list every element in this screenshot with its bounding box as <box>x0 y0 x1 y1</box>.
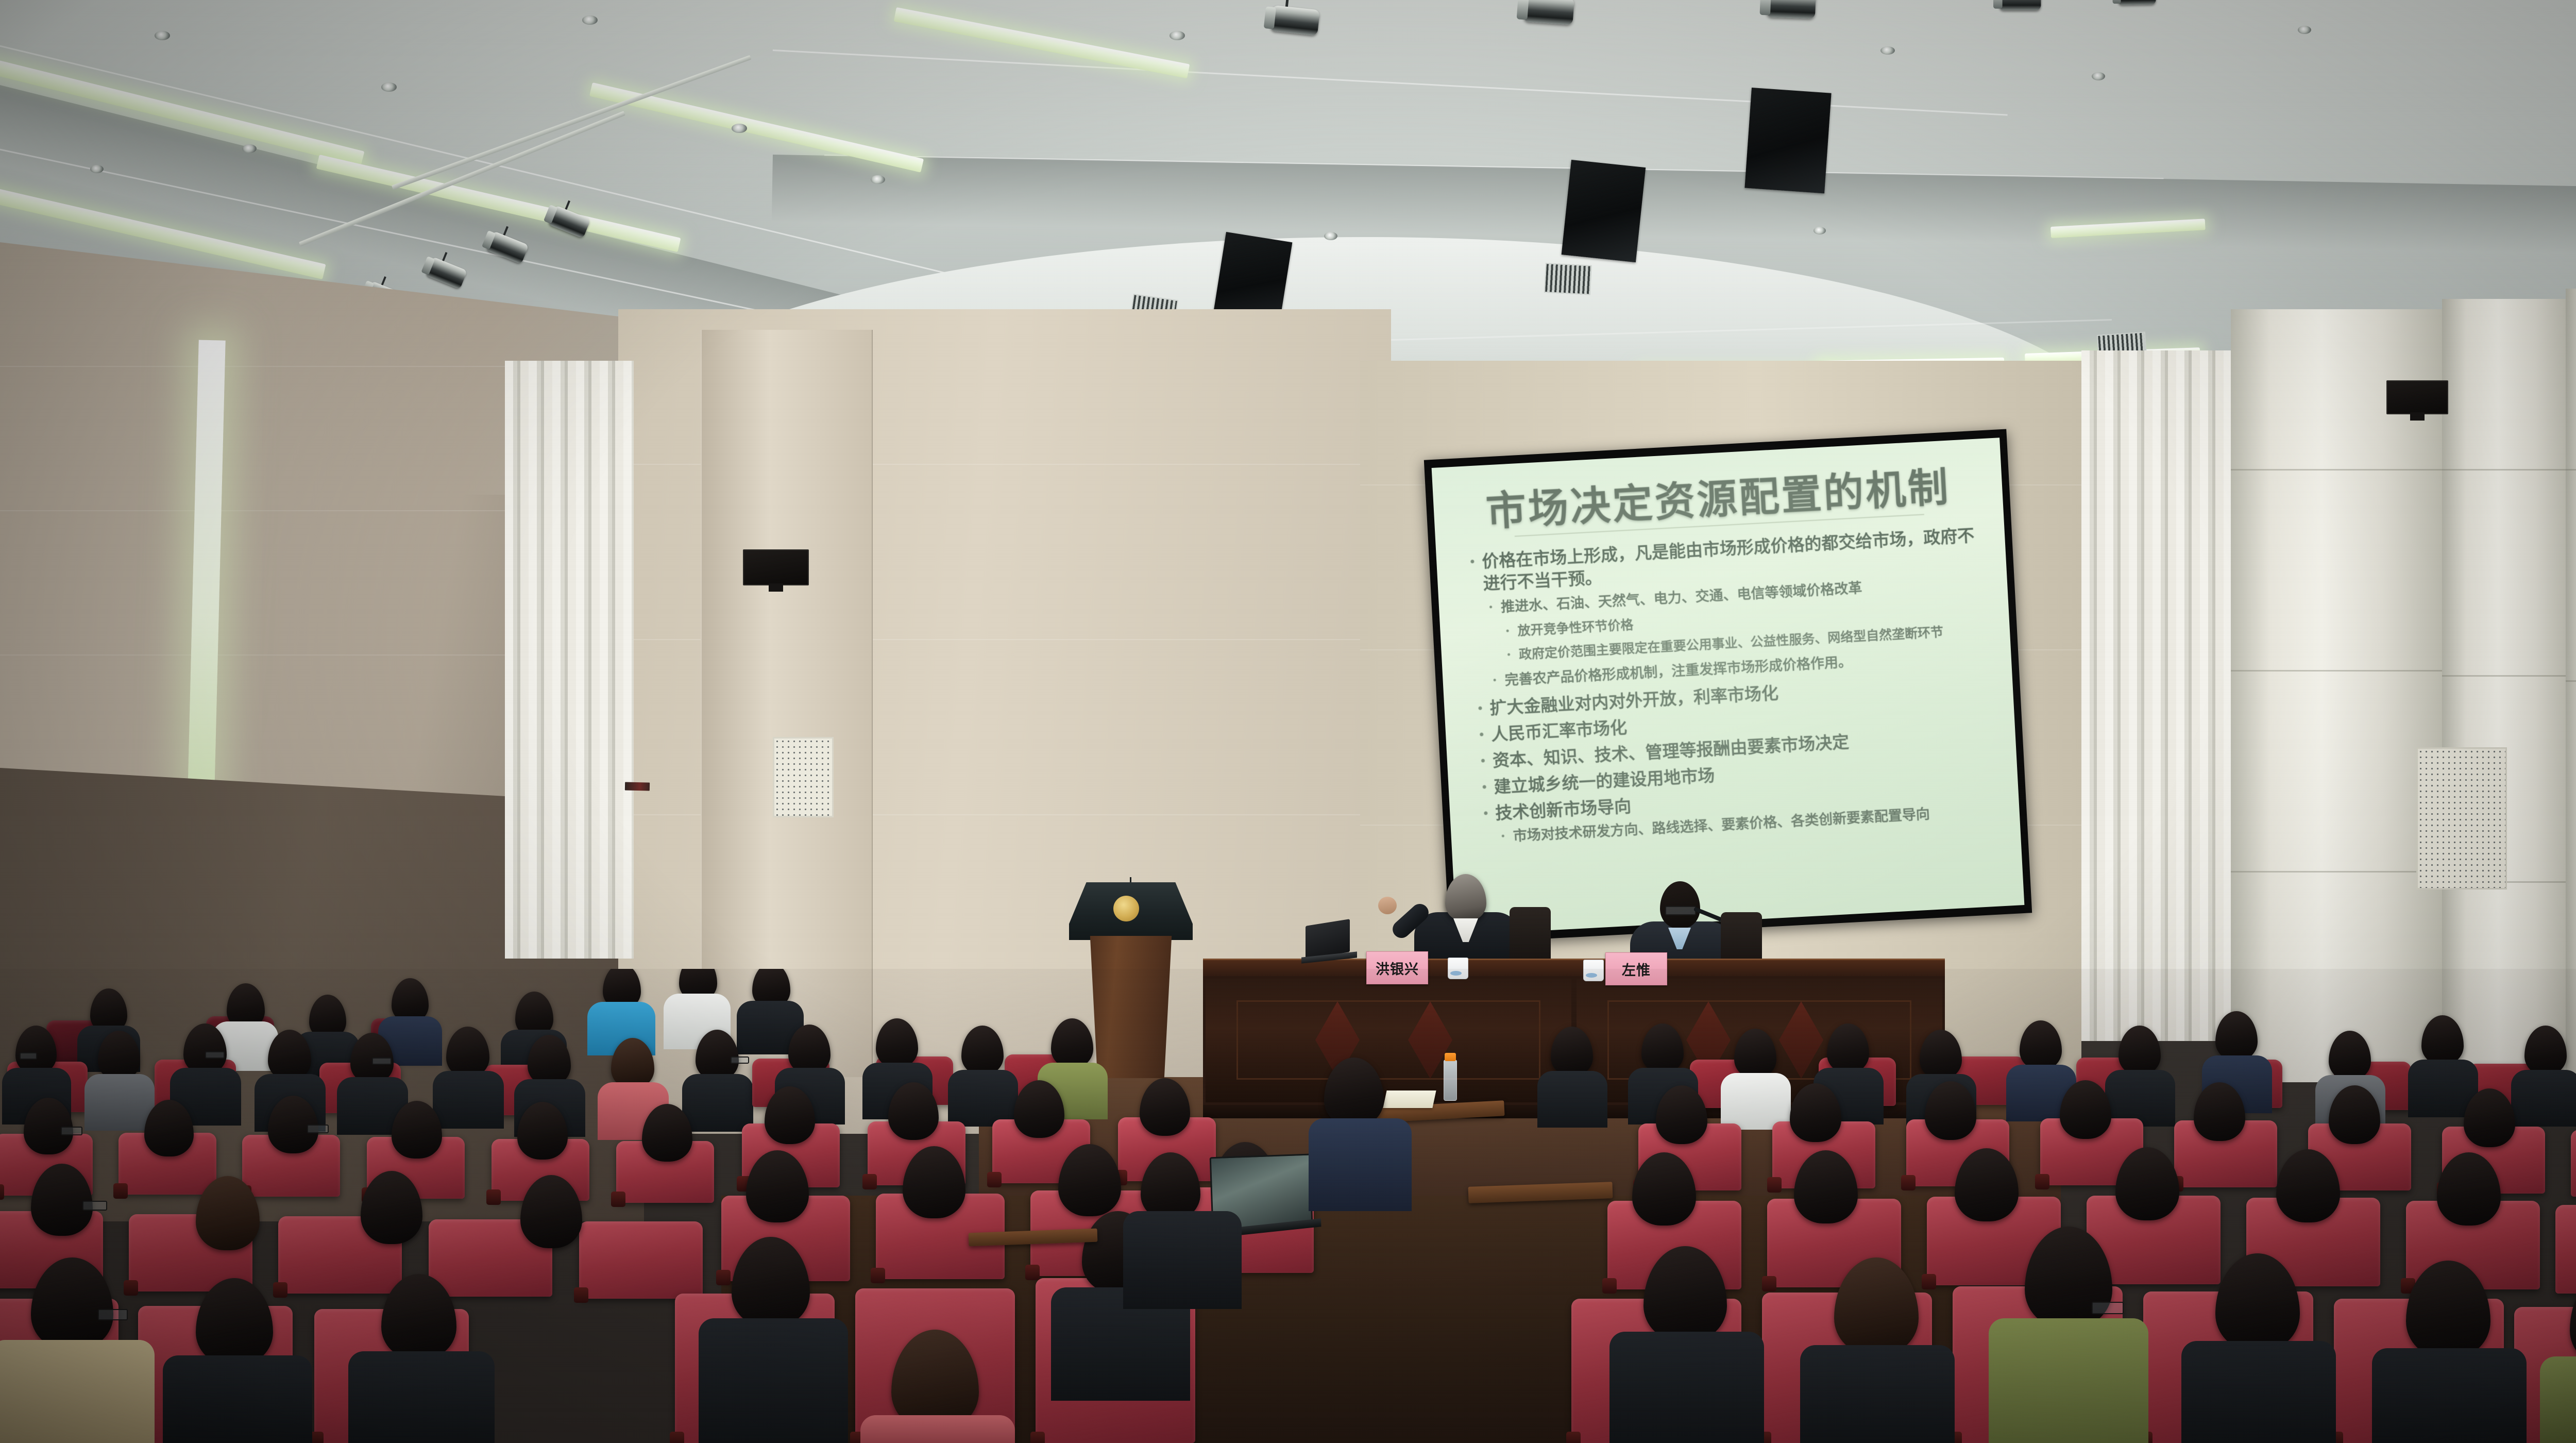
acoustic-panel <box>1744 88 1831 193</box>
open-notebook <box>1383 1090 1436 1108</box>
audience-head <box>1920 1030 1962 1079</box>
recessed-downlight <box>155 31 170 40</box>
slide-bullet-list: 价格在市场上形成，凡是能由市场形成价格的都交给市场，政府不进行不当干预。 推进水… <box>1453 524 2002 848</box>
audience-torso <box>1800 1345 1955 1443</box>
audience-head <box>2524 1026 2567 1075</box>
water-bottle <box>1444 1060 1457 1101</box>
speaker-head <box>1445 874 1486 921</box>
eyeglasses-icon <box>1665 906 1696 915</box>
audience-torso <box>2372 1348 2527 1443</box>
audience-torso <box>1123 1211 1242 1309</box>
audience-head <box>1551 1027 1593 1076</box>
eyeglasses-icon <box>307 1125 329 1133</box>
projection-screen-surface: 市场决定资源配置的机制 价格在市场上形成，凡是能由市场形成价格的都交给市场，政府… <box>1432 438 2025 935</box>
audience-torso <box>948 1070 1018 1127</box>
wall-speaker-icon <box>743 549 809 585</box>
eyeglasses-icon <box>2092 1302 2124 1314</box>
eyeglasses-icon <box>372 1058 392 1065</box>
audience-torso <box>860 1415 1015 1443</box>
wall-grille-panel <box>773 737 834 817</box>
seat[interactable] <box>2571 1130 2576 1197</box>
audience-head <box>1051 1018 1093 1068</box>
recessed-downlight <box>732 124 747 133</box>
acoustic-panel <box>1562 160 1646 262</box>
recessed-downlight <box>1324 232 1337 240</box>
recessed-downlight <box>2092 72 2105 80</box>
university-seal-icon <box>1113 896 1139 921</box>
recessed-downlight <box>1814 227 1826 234</box>
eyeglasses-icon <box>98 1309 128 1320</box>
eyeglasses-icon <box>82 1201 107 1211</box>
audience-torso <box>2181 1341 2336 1443</box>
slide-title: 市场决定资源配置的机制 <box>1450 465 1986 534</box>
wall-pilaster <box>701 330 873 1077</box>
audience-torso <box>1309 1118 1412 1211</box>
audience-head <box>1140 1078 1190 1136</box>
audience-torso <box>1989 1318 2148 1443</box>
audience-torso <box>682 1074 753 1132</box>
audience-head <box>961 1026 1004 1075</box>
audience-area <box>0 969 2576 1443</box>
fluted-wall-panel <box>505 361 634 959</box>
eyeglasses-icon <box>731 1056 749 1064</box>
air-vent <box>1544 263 1592 295</box>
host-head <box>1660 881 1700 929</box>
audience-torso <box>1609 1332 1764 1443</box>
audience-torso <box>84 1074 155 1131</box>
recessed-downlight <box>242 144 257 153</box>
seat[interactable] <box>2555 1205 2576 1294</box>
audience-torso <box>699 1318 848 1443</box>
recessed-downlight <box>1170 31 1185 40</box>
wall-grille-panel <box>2416 747 2507 890</box>
audience-torso <box>0 1340 155 1443</box>
audience-head <box>446 1027 489 1077</box>
wall-room-sign <box>625 782 650 791</box>
recessed-downlight <box>90 165 104 173</box>
audience-torso <box>2540 1356 2576 1443</box>
audience-torso <box>348 1351 495 1443</box>
audience-head <box>2020 1020 2062 1070</box>
recessed-downlight <box>1880 46 1895 55</box>
side-writing-desk <box>1468 1182 1613 1203</box>
seat[interactable] <box>579 1221 703 1299</box>
curved-column <box>2231 309 2447 1082</box>
audience-head <box>2215 1011 2258 1061</box>
wall-speaker-icon <box>2386 380 2448 414</box>
audience-head <box>1641 1023 1684 1073</box>
speaker-hand <box>1378 897 1397 914</box>
recessed-downlight <box>381 82 397 92</box>
audience-head <box>2421 1015 2464 1065</box>
audience-torso <box>2511 1070 2576 1127</box>
audience-head <box>1734 1029 1776 1078</box>
audience-torso <box>433 1071 504 1129</box>
audience-head <box>876 1018 918 1068</box>
audience-head <box>2329 1031 2371 1080</box>
recessed-downlight <box>871 175 885 184</box>
recessed-downlight <box>2298 26 2311 34</box>
audience-torso <box>1537 1071 1607 1128</box>
audience-head <box>1827 1023 1869 1073</box>
eyeglasses-icon <box>20 1052 37 1060</box>
lecture-hall-scene: 市场决定资源配置的机制 价格在市场上形成，凡是能由市场形成价格的都交给市场，政府… <box>0 0 2576 1443</box>
audience-torso <box>163 1355 312 1443</box>
eyeglasses-icon <box>205 1051 225 1059</box>
eyeglasses-icon <box>61 1127 82 1135</box>
audience-head <box>2119 1026 2161 1075</box>
recessed-downlight <box>582 15 598 25</box>
audience-head <box>1324 1058 1384 1127</box>
presentation-slide: 市场决定资源配置的机制 价格在市场上形成，凡是能由市场形成价格的都交给市场，政府… <box>1432 438 2025 935</box>
fluted-wall-panel <box>2081 350 2236 1041</box>
